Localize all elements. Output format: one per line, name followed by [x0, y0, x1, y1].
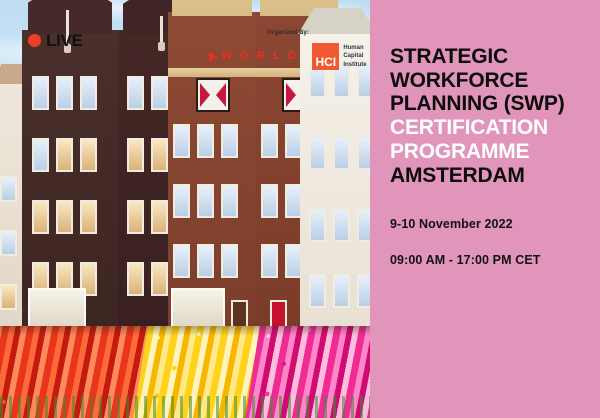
window-row — [32, 76, 97, 110]
bell-gable — [172, 0, 252, 16]
hci-mark: HCI — [312, 43, 339, 70]
window — [56, 200, 73, 234]
window — [173, 124, 190, 158]
event-time: 09:00 AM - 17:00 PM CET — [390, 253, 586, 267]
window — [127, 138, 144, 172]
window — [0, 230, 17, 256]
window-row — [309, 136, 370, 170]
hci-mark-text: HCI — [315, 56, 336, 68]
window — [32, 200, 49, 234]
window-row — [309, 274, 370, 308]
window — [80, 200, 97, 234]
window — [357, 208, 370, 242]
arrow-right-icon — [209, 52, 217, 62]
window — [0, 284, 17, 310]
shopfront — [171, 288, 225, 330]
window — [127, 262, 144, 296]
window — [261, 244, 278, 278]
title-line-2: WORKFORCE — [390, 69, 586, 93]
window — [333, 136, 350, 170]
title-line-1: STRATEGIC — [390, 45, 586, 69]
window — [80, 76, 97, 110]
event-banner: LIVE Organized By: W O R L D HCI Human C… — [0, 0, 600, 418]
window — [309, 136, 326, 170]
window — [197, 244, 214, 278]
window-row — [32, 200, 97, 234]
event-info-panel: STRATEGIC WORKFORCE PLANNING (SWP) CERTI… — [370, 0, 600, 418]
world-logo[interactable]: W O R L D — [209, 51, 298, 62]
building-dark-gable-1 — [22, 30, 118, 330]
tulip-field — [0, 326, 370, 418]
title-line-3: PLANNING (SWP) — [390, 92, 586, 116]
window — [0, 176, 17, 202]
shield-emblem-icon — [196, 78, 230, 112]
hci-word-line: Institute — [343, 61, 366, 69]
shopfront — [28, 288, 86, 330]
live-label: LIVE — [46, 32, 83, 49]
window — [261, 184, 278, 218]
window — [151, 262, 168, 296]
logo-row: W O R L D HCI Human Capital Institute — [209, 43, 366, 70]
window — [56, 76, 73, 110]
window — [309, 208, 326, 242]
live-badge: LIVE — [28, 32, 83, 49]
title-line-6: AMSTERDAM — [390, 164, 586, 188]
window — [127, 200, 144, 234]
window — [309, 274, 326, 308]
window — [221, 184, 238, 218]
organized-by-label: Organized By: — [267, 30, 309, 36]
window-row — [32, 138, 97, 172]
amsterdam-photo: LIVE Organized By: W O R L D HCI Human C… — [0, 0, 370, 418]
gable-roof — [28, 0, 112, 34]
hci-wordmark: Human Capital Institute — [343, 44, 366, 68]
world-logo-text: W O R L D — [221, 51, 298, 62]
window — [221, 244, 238, 278]
window — [173, 184, 190, 218]
window-row — [309, 208, 370, 242]
live-dot-icon — [28, 34, 41, 47]
window — [56, 138, 73, 172]
title-line-5: PROGRAMME — [390, 140, 586, 164]
hci-word-line: Capital — [343, 52, 366, 60]
window — [357, 136, 370, 170]
organizer-logos: Organized By: W O R L D HCI Human Capita… — [208, 30, 368, 70]
window — [151, 200, 168, 234]
event-title: STRATEGIC WORKFORCE PLANNING (SWP) CERTI… — [390, 45, 586, 187]
hoist-hook-icon — [158, 42, 165, 51]
window — [80, 138, 97, 172]
title-line-4: CERTIFICATION — [390, 116, 586, 140]
window — [173, 244, 190, 278]
building-white-right — [300, 30, 370, 330]
window — [197, 184, 214, 218]
window — [197, 124, 214, 158]
event-date: 9-10 November 2022 — [390, 217, 586, 231]
window — [127, 76, 144, 110]
window — [32, 138, 49, 172]
window — [32, 76, 49, 110]
window — [151, 138, 168, 172]
window-row — [173, 244, 238, 278]
window — [333, 274, 350, 308]
window — [221, 124, 238, 158]
hci-word-line: Human — [343, 44, 366, 52]
field-shadow — [0, 326, 370, 336]
hci-logo[interactable]: HCI Human Capital Institute — [312, 43, 366, 70]
window — [151, 76, 168, 110]
window-row — [173, 184, 238, 218]
window-row — [173, 124, 238, 158]
tulip-stems — [0, 396, 370, 418]
window — [357, 274, 370, 308]
window — [261, 124, 278, 158]
window — [333, 208, 350, 242]
